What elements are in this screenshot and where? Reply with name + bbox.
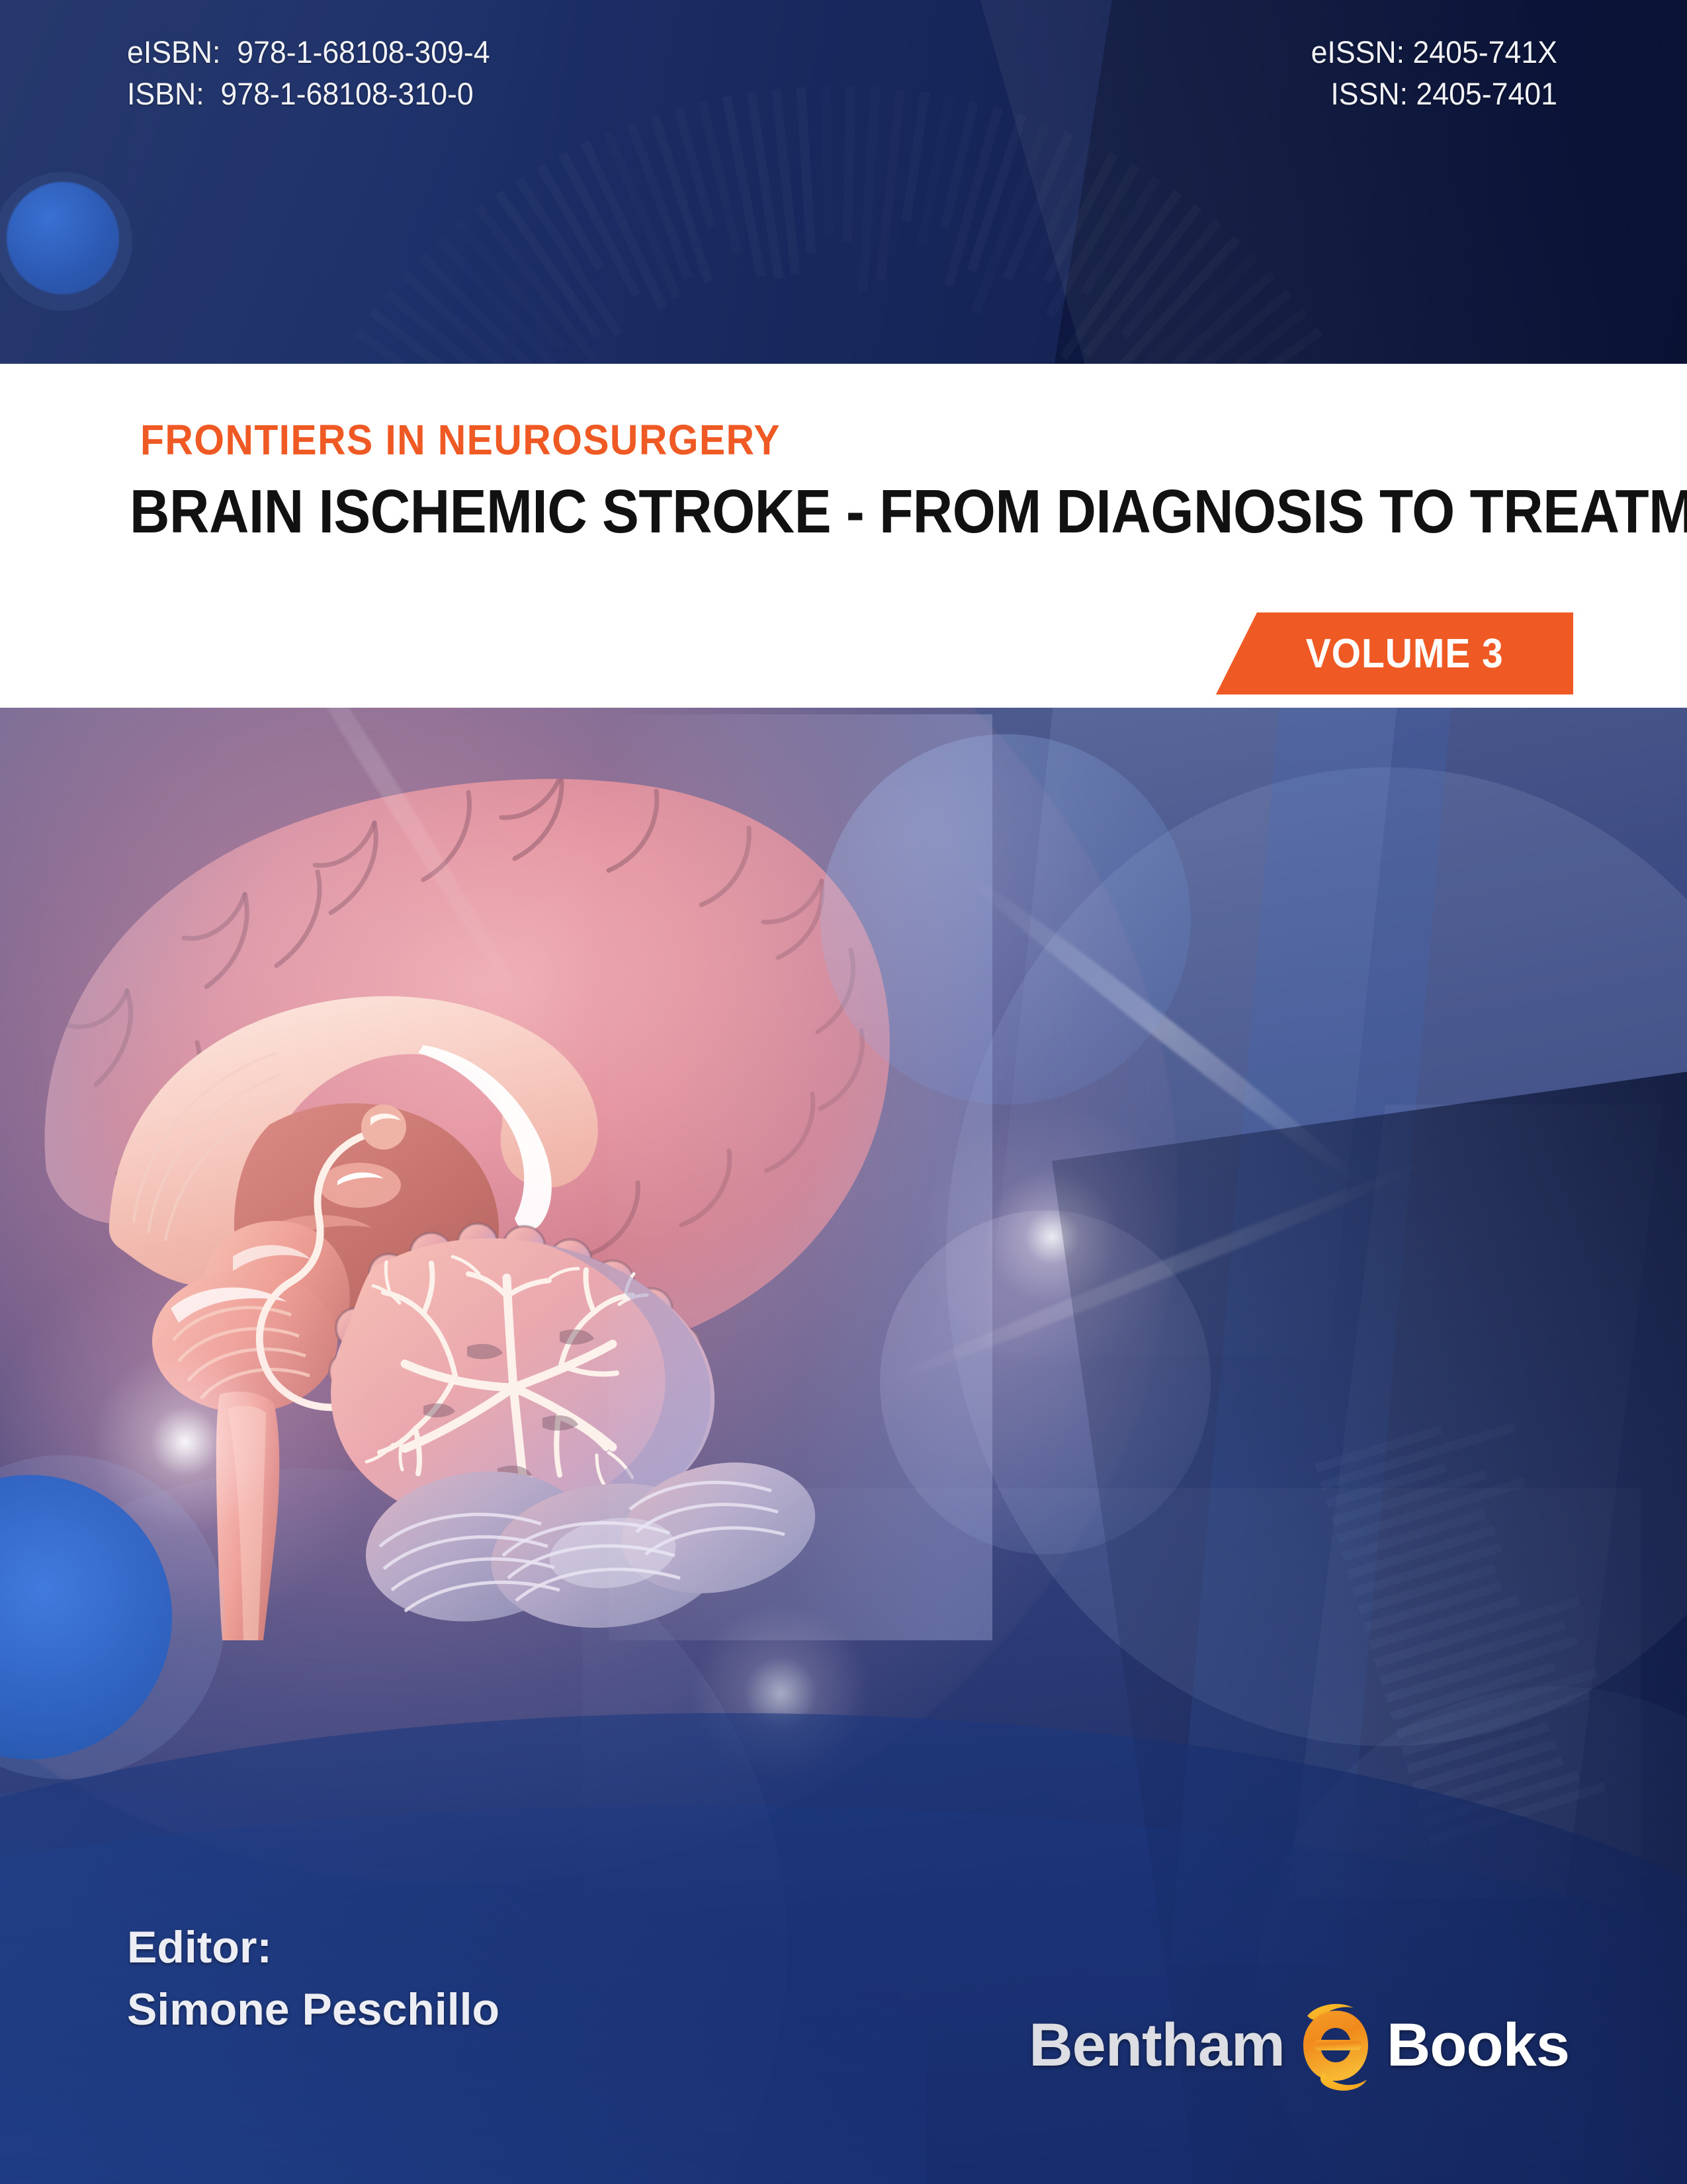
radial-spokes-decor [53,86,1641,364]
volume-badge: VOLUME 3 [1216,612,1573,694]
book-cover: eISBN: 978-1-68108-309-4 ISBN: 978-1-681… [0,0,1687,2184]
editor-name: Simone Peschillo [127,1979,499,2041]
editor-label: Editor: [127,1917,499,1979]
header-circle-blue [7,182,119,294]
ghost-circle-top-right [820,734,1191,1105]
publisher-name-books: Books [1387,2015,1569,2076]
title-band: FRONTIERS IN NEUROSURGERY BRAIN ISCHEMIC… [0,364,1687,708]
volume-badge-label: VOLUME 3 [1305,630,1503,677]
bentham-e-mark-icon [1297,1999,1375,2091]
book-title: BRAIN ISCHEMIC STROKE - FROM DIAGNOSIS T… [130,476,1422,547]
isbn-block: eISBN: 978-1-68108-309-4 ISBN: 978-1-681… [127,32,490,114]
editor-block: Editor: Simone Peschillo [127,1917,499,2041]
publisher-logo: Bentham [1029,2005,1569,2085]
issn-block: eISSN: 2405-741X ISSN: 2405-7401 [1311,32,1557,114]
series-title: FRONTIERS IN NEUROSURGERY [140,415,781,464]
publisher-name-bentham: Bentham [1029,2015,1285,2076]
